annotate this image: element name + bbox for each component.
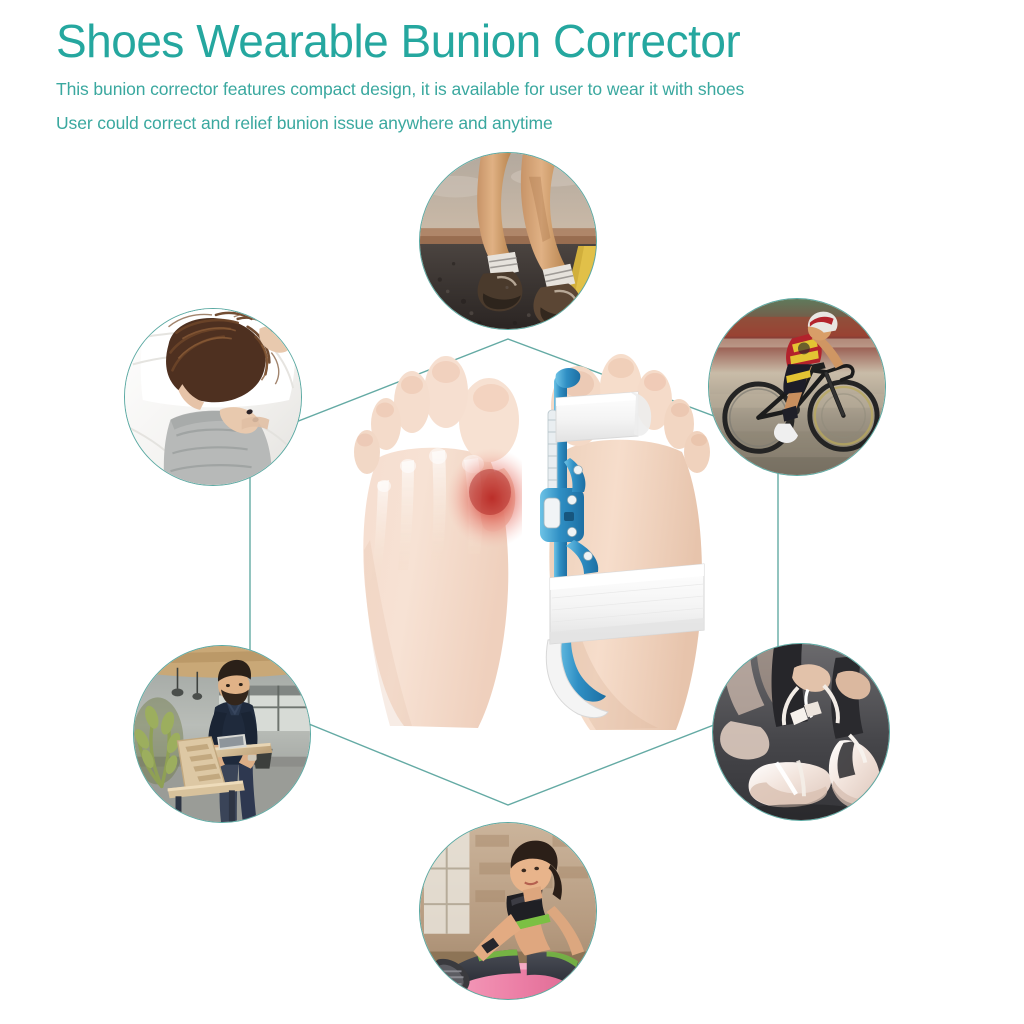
center-product-images (350, 340, 710, 732)
header: Shoes Wearable Bunion Corrector This bun… (56, 14, 956, 134)
standing-desk-photo-image (134, 646, 310, 822)
ballet-shoes-photo (712, 643, 890, 821)
gym-stretch-photo (419, 822, 597, 1000)
cyclist-photo-image (709, 299, 885, 475)
gym-stretch-photo-image (420, 823, 596, 999)
foot-wearing-bunion-corrector-photo (526, 340, 710, 732)
sleeping-photo (124, 308, 302, 486)
runner-photo-image (420, 153, 596, 329)
bunion-foot-photo (350, 340, 522, 732)
subtitle-line-2: User could correct and relief bunion iss… (56, 113, 956, 134)
cyclist-photo (708, 298, 886, 476)
infographic-root: Shoes Wearable Bunion Corrector This bun… (0, 0, 1024, 1024)
page-title: Shoes Wearable Bunion Corrector (56, 14, 956, 68)
runner-photo (419, 152, 597, 330)
subtitle-line-1: This bunion corrector features compact d… (56, 79, 956, 100)
sleeping-photo-image (125, 309, 301, 485)
ballet-shoes-photo-image (713, 644, 889, 820)
standing-desk-photo (133, 645, 311, 823)
